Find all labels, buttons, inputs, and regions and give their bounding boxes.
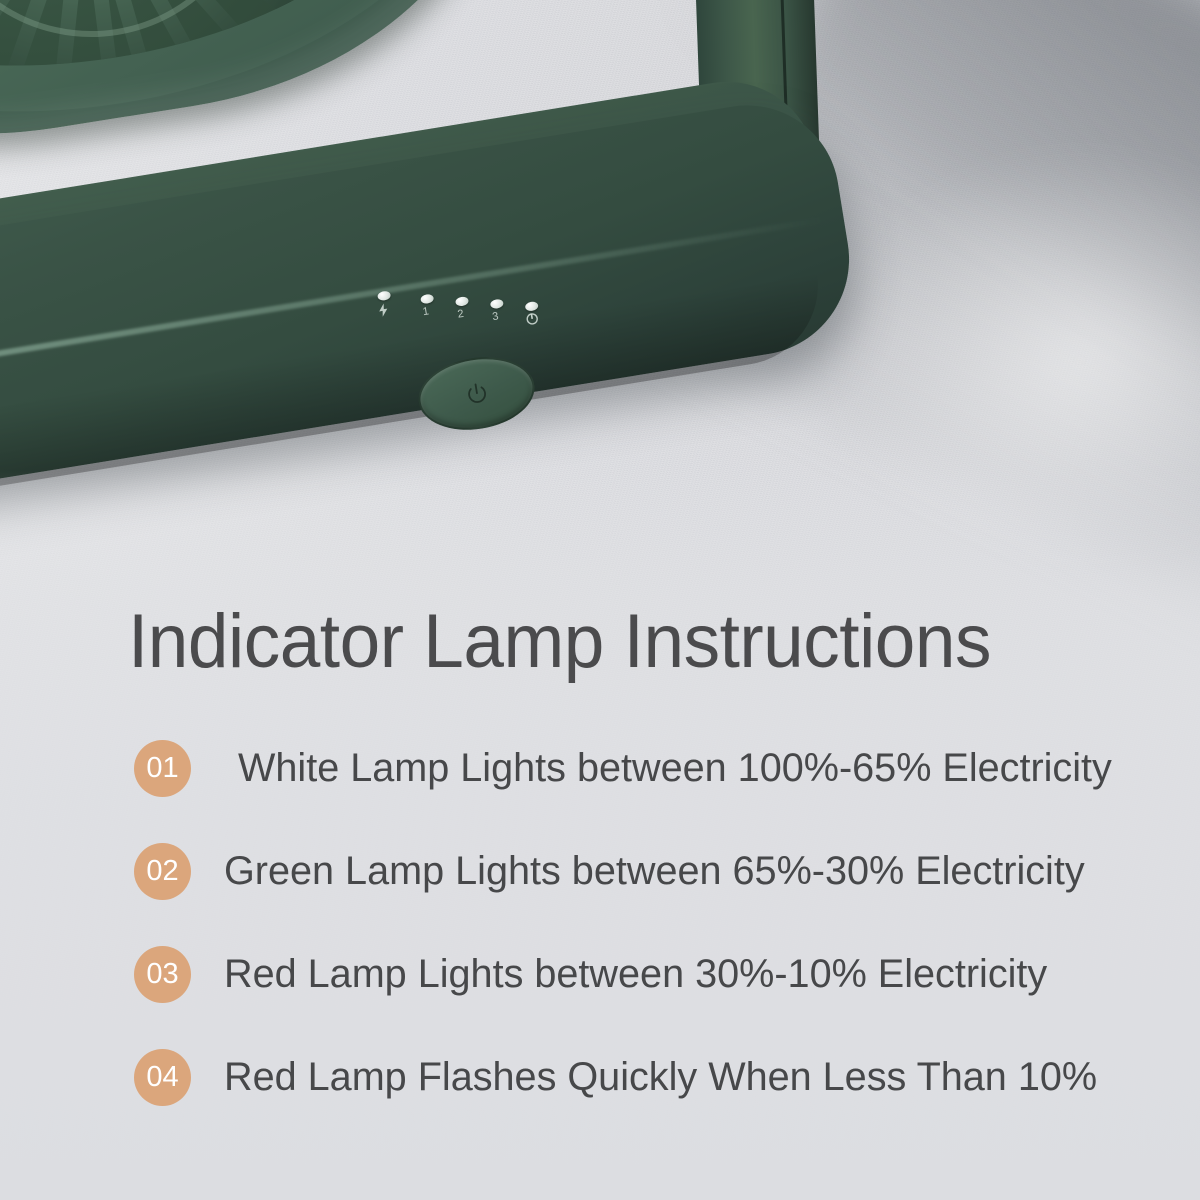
list-item-text: Green Lamp Lights between 65%-30% Electr… [224, 845, 1085, 897]
indicator-led-3 [490, 298, 504, 309]
indicator-led-1 [420, 293, 434, 304]
indicator-label-2: 2 [457, 309, 465, 321]
list-item-text: Red Lamp Lights between 30%-10% Electric… [224, 948, 1047, 1000]
indicator-led-2 [455, 296, 469, 307]
list-item-text: Red Lamp Flashes Quickly When Less Than … [224, 1051, 1097, 1103]
product-photo: 1 2 3 [0, 0, 1200, 520]
fan-grille [0, 0, 465, 113]
instruction-list: 01 White Lamp Lights between 100%-65% El… [134, 736, 1134, 1148]
indicator-label-1: 1 [422, 306, 430, 318]
list-item-badge: 03 [134, 946, 191, 1003]
list-item-badge: 01 [134, 740, 191, 797]
list-item-badge: 04 [134, 1049, 191, 1106]
indicator-label-3: 3 [492, 311, 500, 323]
list-item: 03 Red Lamp Lights between 30%-10% Elect… [134, 942, 1134, 1045]
indicator-led-power [525, 301, 539, 312]
list-item: 02 Green Lamp Lights between 65%-30% Ele… [134, 839, 1134, 942]
indicator-led-charge [377, 290, 391, 301]
power-small-icon [525, 312, 539, 326]
list-item-text: White Lamp Lights between 100%-65% Elect… [238, 742, 1112, 794]
list-item-badge: 02 [134, 843, 191, 900]
charge-bolt-icon [377, 303, 390, 318]
page-title: Indicator Lamp Instructions [128, 598, 991, 685]
list-item: 04 Red Lamp Flashes Quickly When Less Th… [134, 1045, 1134, 1148]
power-icon [463, 380, 491, 408]
product-infographic-page: 1 2 3 Indicator Lamp Instructions 01 Whi… [0, 0, 1200, 1200]
list-item: 01 White Lamp Lights between 100%-65% El… [134, 736, 1134, 839]
